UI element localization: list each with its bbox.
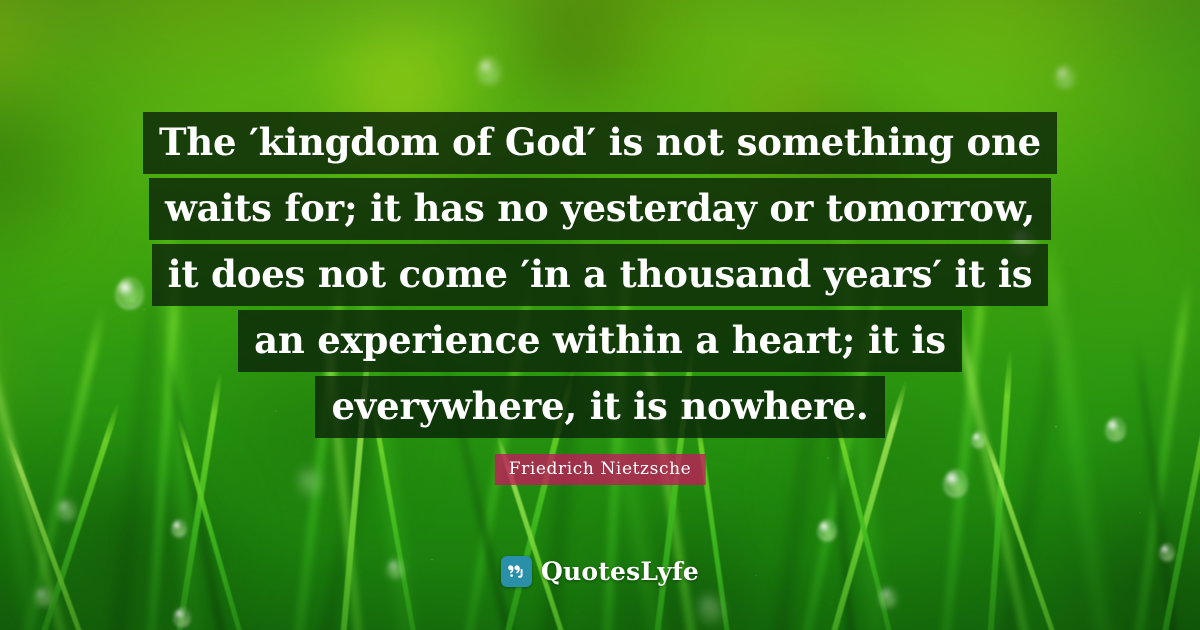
- quote-line: everywhere, it is nowhere.: [315, 376, 884, 438]
- quote-line: an experience within a heart; it is: [238, 310, 962, 372]
- quote-card: The ′kingdom of God′ is not something on…: [0, 0, 1200, 630]
- author-attribution: Friedrich Nietzsche: [495, 454, 706, 485]
- card-content: The ′kingdom of God′ is not something on…: [0, 0, 1200, 630]
- quote-text-block: The ′kingdom of God′ is not something on…: [0, 112, 1200, 438]
- quotation-mark-icon: [501, 556, 532, 587]
- quote-line: waits for; it has no yesterday or tomorr…: [149, 178, 1051, 240]
- quote-line: it does not come ′in a thousand years′ i…: [152, 244, 1049, 306]
- brand-name: QuotesLyfe: [541, 557, 699, 586]
- quote-line: The ′kingdom of God′ is not something on…: [143, 112, 1057, 174]
- brand-logo[interactable]: QuotesLyfe: [501, 556, 699, 587]
